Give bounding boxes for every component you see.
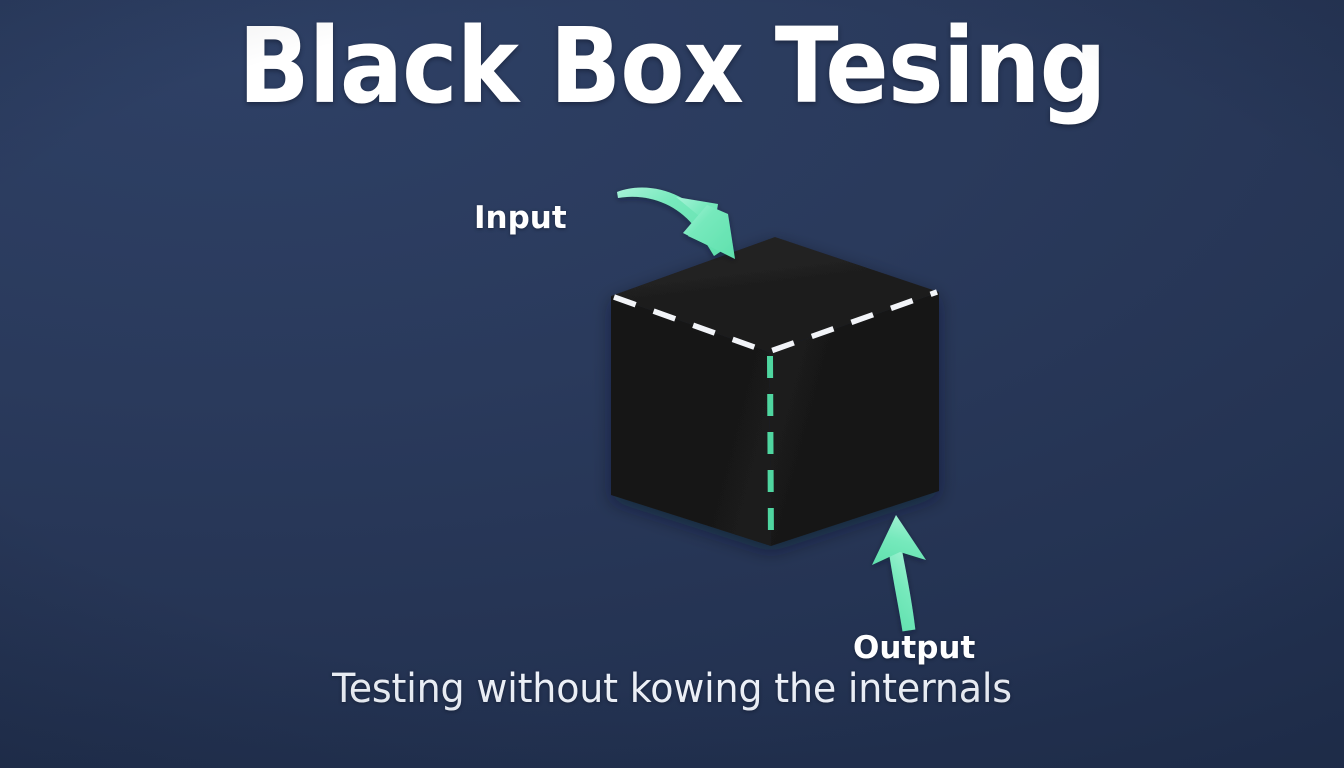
arrow-layer (0, 0, 1344, 768)
subtitle-caption: Testing without kowing the internals (34, 666, 1311, 712)
output-label: Output (853, 630, 975, 666)
input-label: Input (474, 200, 567, 236)
illustration-canvas: Black Box Tesing (0, 0, 1344, 768)
curved-arrow-icon (617, 188, 735, 259)
straight-arrow-icon (872, 515, 926, 628)
